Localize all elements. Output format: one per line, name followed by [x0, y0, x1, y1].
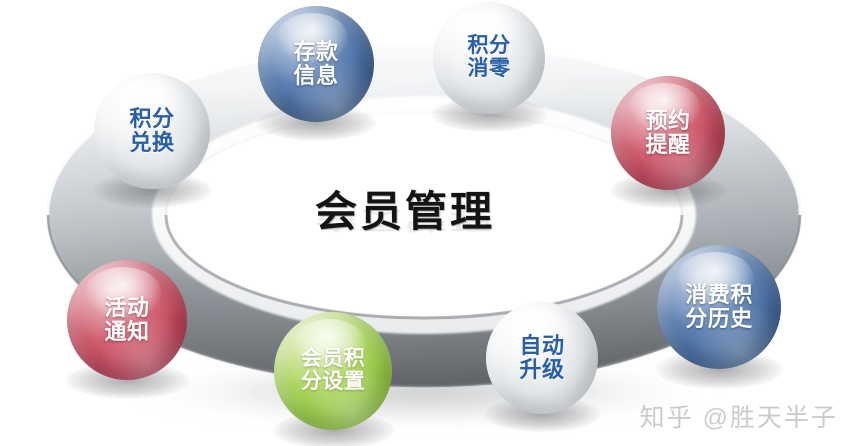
node-label: 积分 消零	[468, 35, 511, 80]
node-label: 消费积 分历史	[685, 283, 753, 331]
node-label: 预约 提醒	[645, 109, 690, 157]
node-deposit-information[interactable]: 存款 信息	[258, 6, 374, 122]
page-title: 会员管理	[315, 178, 495, 239]
node-auto-upgrade[interactable]: 自动 升级	[486, 302, 598, 414]
node-points-exchange[interactable]: 积分 兑换	[94, 73, 210, 189]
diagram-canvas: 会员管理 会员管理 积分 兑换存款 信息积分 消零预约 提醒消费积 分历史自动 …	[0, 0, 850, 446]
node-activity-notification[interactable]: 活动 通知	[67, 260, 187, 380]
node-points-clearing[interactable]: 积分 消零	[433, 2, 545, 114]
node-appointment-reminder[interactable]: 预约 提醒	[611, 76, 725, 190]
node-label: 会员积 分设置	[301, 348, 366, 393]
node-consumption-points-history[interactable]: 消费积 分历史	[657, 245, 781, 369]
node-member-points-settings[interactable]: 会员积 分设置	[274, 312, 392, 430]
node-label: 积分 兑换	[129, 107, 174, 155]
node-label: 活动 通知	[104, 296, 149, 344]
watermark: 知乎 @胜天半子	[640, 398, 838, 434]
node-label: 自动 升级	[519, 334, 564, 382]
node-label: 存款 信息	[293, 40, 338, 88]
